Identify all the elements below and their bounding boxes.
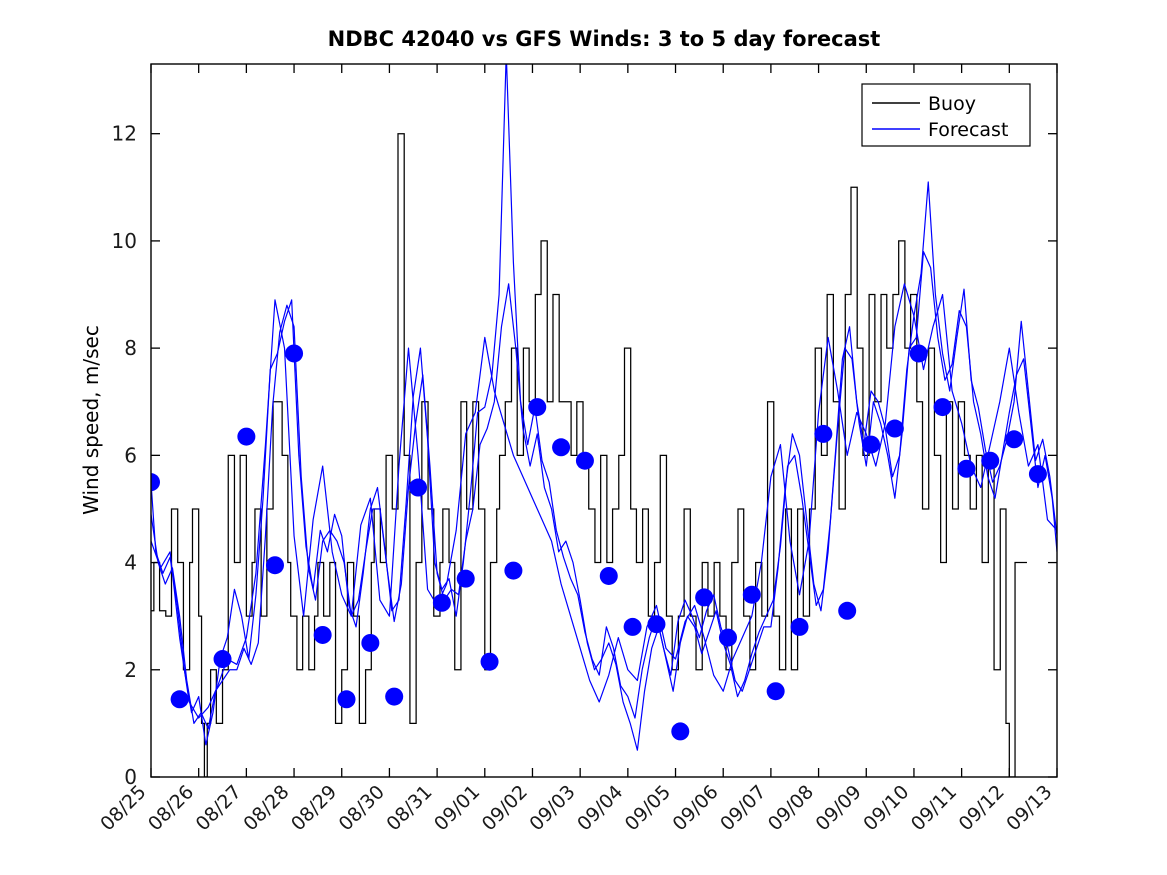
daily-mean-marker bbox=[862, 436, 880, 454]
y-tick-label: 8 bbox=[124, 336, 137, 360]
daily-mean-marker bbox=[600, 567, 618, 585]
daily-mean-marker bbox=[457, 570, 475, 588]
daily-mean-marker bbox=[1005, 430, 1023, 448]
y-tick-label: 4 bbox=[124, 551, 137, 575]
daily-mean-marker bbox=[814, 425, 832, 443]
daily-mean-marker bbox=[237, 428, 255, 446]
daily-mean-marker bbox=[1029, 465, 1047, 483]
daily-mean-marker bbox=[934, 398, 952, 416]
daily-mean-marker bbox=[886, 420, 904, 438]
y-tick-label: 2 bbox=[124, 658, 137, 682]
y-tick-label: 6 bbox=[124, 443, 137, 467]
daily-mean-marker bbox=[576, 452, 594, 470]
figure-container: NDBC 42040 vs GFS Winds: 3 to 5 day fore… bbox=[0, 0, 1167, 875]
daily-mean-marker bbox=[981, 452, 999, 470]
daily-mean-marker bbox=[528, 398, 546, 416]
daily-mean-marker bbox=[504, 562, 522, 580]
legend-label-forecast: Forecast bbox=[928, 119, 1008, 141]
daily-mean-marker bbox=[314, 626, 332, 644]
daily-mean-marker bbox=[695, 588, 713, 606]
daily-mean-marker bbox=[285, 344, 303, 362]
y-tick-label: 10 bbox=[112, 229, 137, 253]
daily-mean-marker bbox=[647, 615, 665, 633]
chart-title: NDBC 42040 vs GFS Winds: 3 to 5 day fore… bbox=[328, 27, 881, 51]
daily-mean-marker bbox=[957, 460, 975, 478]
daily-mean-marker bbox=[266, 556, 284, 574]
wind-speed-chart: NDBC 42040 vs GFS Winds: 3 to 5 day fore… bbox=[0, 0, 1167, 875]
daily-mean-marker bbox=[171, 690, 189, 708]
daily-mean-marker bbox=[910, 344, 928, 362]
daily-mean-marker bbox=[767, 682, 785, 700]
daily-mean-marker bbox=[719, 629, 737, 647]
daily-mean-marker bbox=[214, 650, 232, 668]
daily-mean-marker bbox=[409, 479, 427, 497]
daily-mean-marker bbox=[671, 722, 689, 740]
daily-mean-marker bbox=[743, 586, 761, 604]
y-axis-label: Wind speed, m/sec bbox=[79, 325, 103, 515]
chart-legend[interactable]: BuoyForecast bbox=[862, 84, 1030, 146]
daily-mean-marker bbox=[433, 594, 451, 612]
legend-label-buoy: Buoy bbox=[928, 93, 976, 115]
daily-mean-marker bbox=[361, 634, 379, 652]
daily-mean-marker bbox=[791, 618, 809, 636]
daily-mean-marker bbox=[552, 438, 570, 456]
daily-mean-marker bbox=[385, 688, 403, 706]
daily-mean-marker bbox=[338, 690, 356, 708]
y-tick-label: 12 bbox=[112, 122, 137, 146]
daily-mean-marker bbox=[481, 653, 499, 671]
daily-mean-marker bbox=[838, 602, 856, 620]
daily-mean-marker bbox=[624, 618, 642, 636]
